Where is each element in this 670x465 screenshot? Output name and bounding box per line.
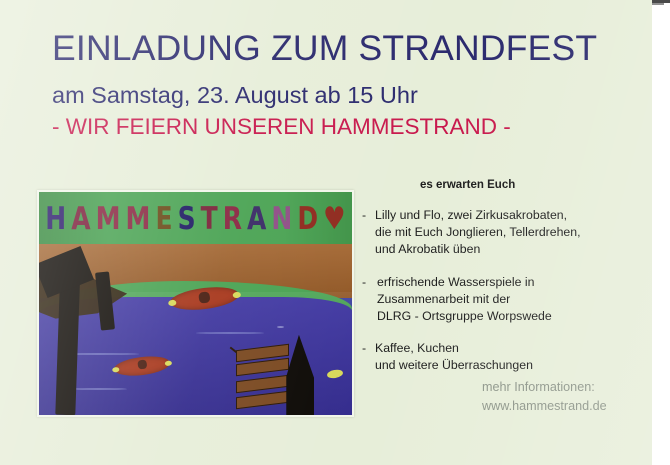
artwork-dock bbox=[236, 346, 289, 415]
artwork-letter: H bbox=[45, 203, 66, 234]
artwork-canvas: H A M M E S T R A N D ♥ bbox=[39, 192, 352, 415]
bullet-dash: - bbox=[362, 340, 366, 357]
contact-label: mehr Informationen: bbox=[482, 378, 607, 397]
artwork-letter: A bbox=[247, 203, 266, 234]
artwork-letter: E bbox=[155, 203, 172, 234]
bullet-dash: - bbox=[362, 274, 366, 291]
heart-icon: ♥ bbox=[323, 203, 345, 234]
bullet-dash: - bbox=[362, 207, 366, 224]
website-url[interactable]: www.hammestrand.de bbox=[482, 397, 607, 416]
artwork-dock-plank bbox=[236, 391, 289, 409]
program-heading: es erwarten Euch bbox=[420, 179, 515, 191]
artwork-title-letters: H A M M E S T R A N D ♥ bbox=[45, 194, 345, 243]
artwork-letter: D bbox=[297, 203, 318, 234]
artwork-letter: T bbox=[201, 203, 218, 234]
list-item-line: Lilly und Flo, zwei Zirkusakrobaten, bbox=[375, 207, 652, 224]
list-item-line: Kaffee, Kuchen bbox=[375, 340, 652, 357]
artwork-dock-plank bbox=[236, 374, 289, 392]
list-item-line: erfrischende Wasserspiele in bbox=[377, 274, 652, 291]
event-slogan: - WIR FEIERN UNSEREN HAMMESTRAND - bbox=[52, 114, 511, 140]
artwork-letter: M bbox=[96, 203, 121, 234]
list-item: - erfrischende Wasserspiele in Zusammena… bbox=[362, 274, 652, 326]
artwork-letter: R bbox=[223, 203, 242, 234]
event-date: am Samstag, 23. August ab 15 Uhr bbox=[52, 82, 418, 109]
artwork-letter: N bbox=[271, 203, 292, 234]
list-item-line: und weitere Überraschungen bbox=[375, 357, 652, 374]
artwork-letter: S bbox=[178, 203, 196, 234]
list-item: - Lilly und Flo, zwei Zirkusakrobaten, d… bbox=[362, 207, 652, 259]
artwork-letter: M bbox=[126, 203, 151, 234]
invitation-poster: H A M M E S T R A N D ♥ bbox=[0, 0, 670, 465]
list-item-line: Zusammenarbeit mit der bbox=[377, 291, 652, 308]
scan-edge-mark-secondary bbox=[652, 3, 664, 5]
program-list: - Lilly und Flo, zwei Zirkusakrobaten, d… bbox=[362, 207, 652, 390]
list-item-line: die mit Euch Jonglieren, Tellerdrehen, bbox=[375, 224, 652, 241]
artwork-speck bbox=[277, 326, 284, 328]
artwork-photo: H A M M E S T R A N D ♥ bbox=[37, 190, 354, 417]
artwork-letter: A bbox=[71, 203, 90, 234]
list-item-line: und Akrobatik üben bbox=[375, 241, 652, 258]
list-item-line: DLRG - Ortsgruppe Worpswede bbox=[377, 308, 652, 325]
list-item: - Kaffee, Kuchen und weitere Überraschun… bbox=[362, 340, 652, 374]
contact-info: mehr Informationen: www.hammestrand.de bbox=[482, 378, 607, 415]
page-title: EINLADUNG ZUM STRANDFEST bbox=[52, 28, 597, 69]
